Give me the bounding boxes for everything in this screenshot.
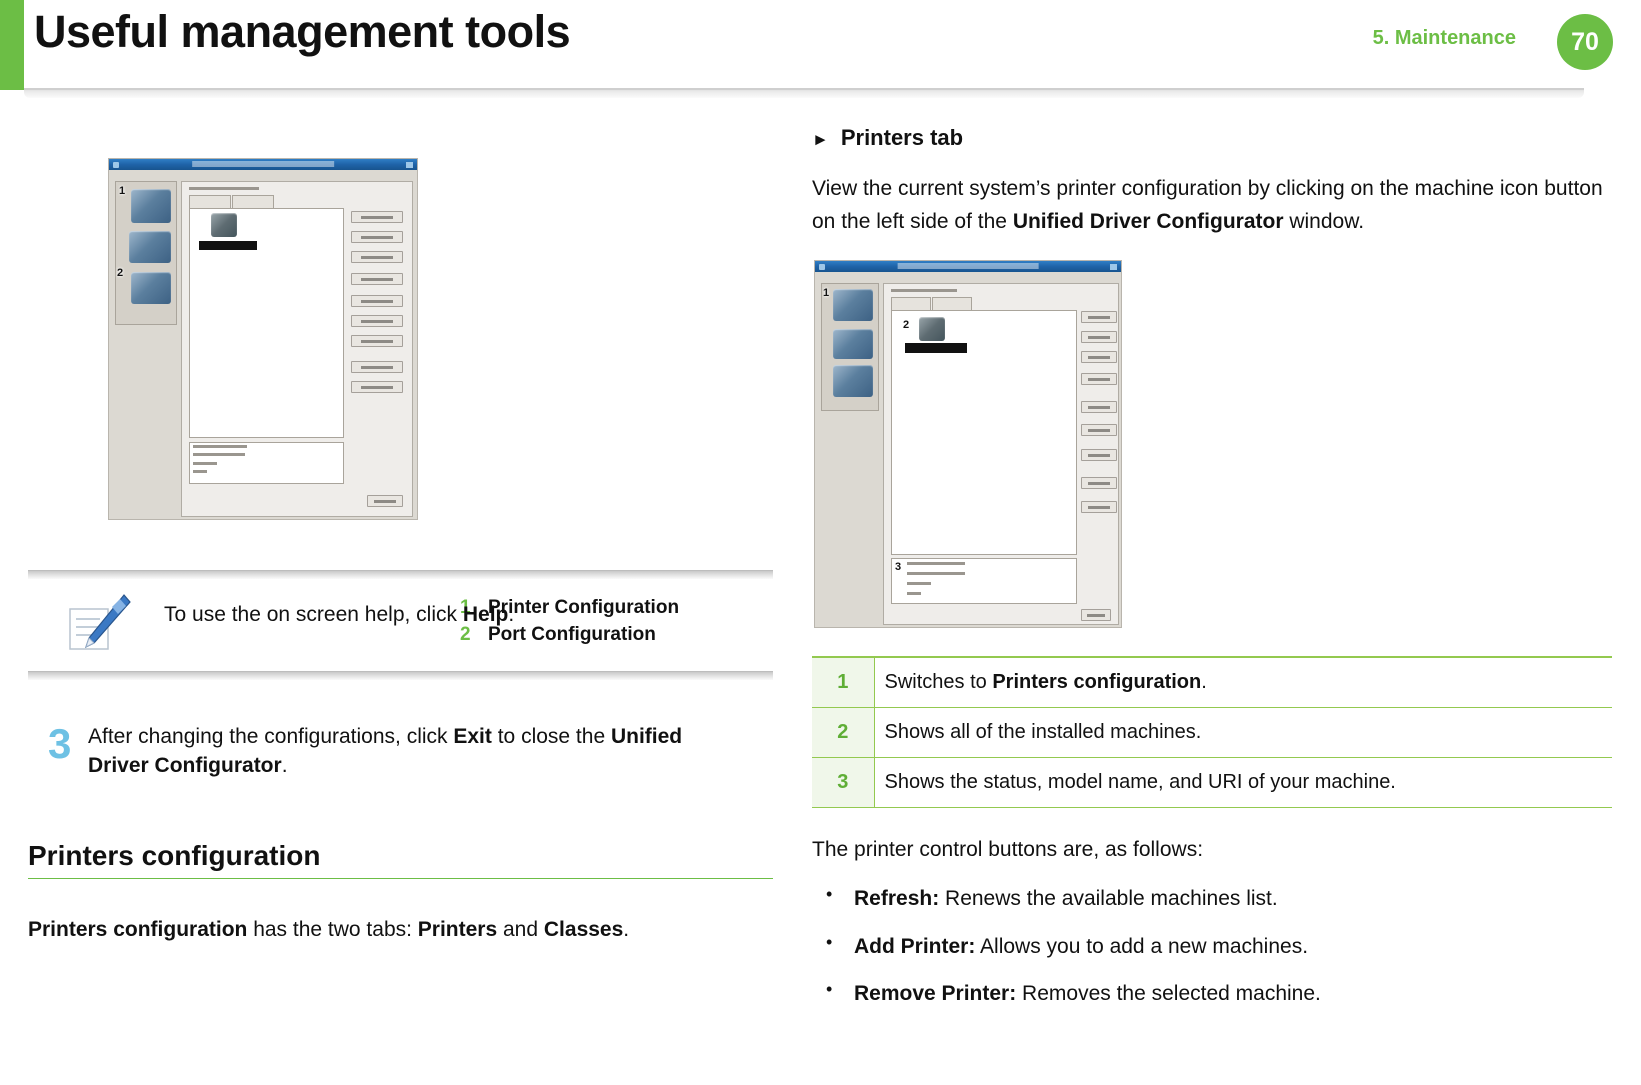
detail-line-1 [193,445,247,448]
detail-line-4 [193,470,207,473]
row-bold-1: Printers configuration [992,671,1201,693]
refresh-button[interactable] [351,211,403,223]
step-text: After changing the configurations, click… [88,723,748,781]
stop-button[interactable] [1081,401,1117,413]
page-number-badge: 70 [1557,14,1613,70]
bullet-bold-add-printer: Add Printer: [854,935,975,958]
about-button[interactable] [351,361,403,373]
printers-tab-intro: View the current system’s printer config… [812,173,1612,238]
panel-heading-line [891,289,957,292]
note-text: To use the on screen help, click Help. [164,603,514,627]
printer-control-buttons-intro: The printer control buttons are, as foll… [812,834,1612,867]
remove-printer-button[interactable] [1081,351,1117,363]
figure-callout-1: 1 [823,287,829,299]
tab-printers[interactable] [891,297,931,310]
step-text-1: After changing the configurations, click [88,725,453,748]
bullet-text-refresh: Renews the available machines list. [939,887,1278,910]
set-as-default-button[interactable] [1081,373,1117,385]
header-accent-bar [0,0,24,90]
para-text-2: and [497,918,544,941]
about-button[interactable] [1081,477,1117,489]
intro-bold-1: Unified Driver Configurator [1013,210,1284,233]
list-item: Add Printer: Allows you to add a new mac… [812,932,1612,961]
detail-line-2 [907,572,965,575]
detail-line-4 [907,592,921,595]
triangle-right-icon: ► [812,131,829,148]
tab-classes[interactable] [932,297,972,310]
para-text-1: has the two tabs: [247,918,417,941]
machine-list-item-label [199,241,257,250]
note-box: To use the on screen help, click Help. [28,570,773,680]
table-row-description: Shows all of the installed machines. [874,707,1612,757]
note-text-before: To use the on screen help, click [164,603,463,626]
figure-printers-configuration-wrap: 1 2 3 [814,260,1612,632]
intro-text-2: window. [1284,210,1365,233]
figure-callout-2: 2 [903,319,909,331]
figure-unified-driver-configurator: 1 2 [108,158,418,520]
printer-configuration-icon[interactable] [131,189,171,223]
help-button[interactable] [351,381,403,393]
properties-button[interactable] [1081,449,1117,461]
row-text-2: . [1201,671,1207,693]
test-button[interactable] [351,315,403,327]
tab-printers[interactable] [189,195,231,208]
machine-list-item-label [905,343,967,353]
section-heading-printers-configuration: Printers configuration [28,840,773,879]
window-titlebar [109,159,417,170]
detail-line-3 [907,582,931,585]
bullet-text-add-printer: Allows you to add a new machines. [975,935,1308,958]
detail-line-1 [907,562,965,565]
callout-reference-table: 1 Switches to Printers configuration. 2 … [812,656,1612,808]
step-number: 3 [28,723,88,781]
sub-heading-label: Printers tab [841,125,963,151]
row-text-1: Switches to [885,671,993,693]
para-bold-1: Printers configuration [28,918,247,941]
table-row: 2 Shows all of the installed machines. [812,707,1612,757]
figure-printers-configuration: 1 2 3 [814,260,1122,628]
row-text-1: Shows the status, model name, and URI of… [885,771,1396,793]
window-close-icon [1110,264,1117,270]
step-3: 3 After changing the configurations, cli… [28,723,773,781]
window-title-text [192,161,334,167]
table-row-number: 3 [812,757,874,807]
port-configuration-icon[interactable] [131,272,171,304]
section-heading-rule [28,878,773,879]
table-row-number: 2 [812,707,874,757]
ports-configuration-icon[interactable] [833,329,873,359]
add-printer-button[interactable] [1081,331,1117,343]
table-row: 1 Switches to Printers configuration. [812,657,1612,707]
remove-printer-button[interactable] [351,251,403,263]
page-title: Useful management tools [34,6,570,58]
para-text-3: . [623,918,629,941]
tab-classes[interactable] [232,195,274,208]
figure-callout-3: 3 [895,561,901,573]
window-menu-icon [113,162,119,168]
section-heading-text: Printers configuration [28,840,773,872]
exit-button[interactable] [1081,609,1111,621]
note-body: To use the on screen help, click Help. [28,579,773,671]
table-row-description: Switches to Printers configuration. [874,657,1612,707]
header-divider [24,88,1584,98]
port-configuration-icon[interactable] [833,365,873,397]
list-item: Remove Printer: Removes the selected mac… [812,979,1612,1008]
table-row: 3 Shows the status, model name, and URI … [812,757,1612,807]
bullet-bold-refresh: Refresh: [854,887,939,910]
page-header: Useful management tools 5. Maintenance 7… [0,0,1641,98]
properties-button[interactable] [351,335,403,347]
window-title-text [898,263,1039,269]
refresh-button[interactable] [1081,311,1117,323]
printers-configuration-icon[interactable] [833,289,873,321]
note-pencil-icon [66,593,132,657]
step-text-3: . [282,754,288,777]
note-text-after: . [508,603,514,626]
list-item: Refresh: Renews the available machines l… [812,884,1612,913]
row-text-1: Shows all of the installed machines. [885,721,1202,743]
test-button[interactable] [1081,424,1117,436]
help-button[interactable] [1081,501,1117,513]
printers-configuration-paragraph: Printers configuration has the two tabs:… [28,915,773,944]
bullet-text-remove-printer: Removes the selected machine. [1016,982,1321,1005]
window-titlebar [815,261,1121,272]
panel-heading-line [189,187,259,190]
set-as-default-button[interactable] [351,273,403,285]
detail-line-2 [193,453,245,456]
note-text-bold: Help [463,603,509,626]
window-menu-icon [819,264,825,270]
sub-heading-printers-tab: ► Printers tab [812,125,1612,151]
machine-list-item-icon[interactable] [211,213,237,237]
bullet-bold-remove-printer: Remove Printer: [854,982,1016,1005]
figure-callout-2: 2 [117,267,123,279]
detail-line-3 [193,462,217,465]
machine-list-item-icon[interactable] [919,317,945,341]
table-row-number: 1 [812,657,874,707]
note-top-divider [28,570,773,579]
left-column: 1 2 1 [28,125,773,1065]
chapter-label: 5. Maintenance [1373,27,1516,50]
ports-configuration-icon[interactable] [129,231,171,263]
step-bold-exit: Exit [453,725,492,748]
printer-control-buttons-list: Refresh: Renews the available machines l… [812,884,1612,1008]
step-text-2: to close the [492,725,611,748]
table-row-description: Shows the status, model name, and URI of… [874,757,1612,807]
right-column: ► Printers tab View the current system’s… [812,125,1612,1070]
note-bottom-divider [28,671,773,680]
add-printer-button[interactable] [351,231,403,243]
exit-button[interactable] [367,495,403,507]
figure-callout-1: 1 [119,185,125,197]
window-close-icon [406,162,413,168]
para-bold-3: Classes [544,918,623,941]
page-root: Useful management tools 5. Maintenance 7… [0,0,1641,1085]
para-bold-2: Printers [418,918,497,941]
stop-button[interactable] [351,295,403,307]
